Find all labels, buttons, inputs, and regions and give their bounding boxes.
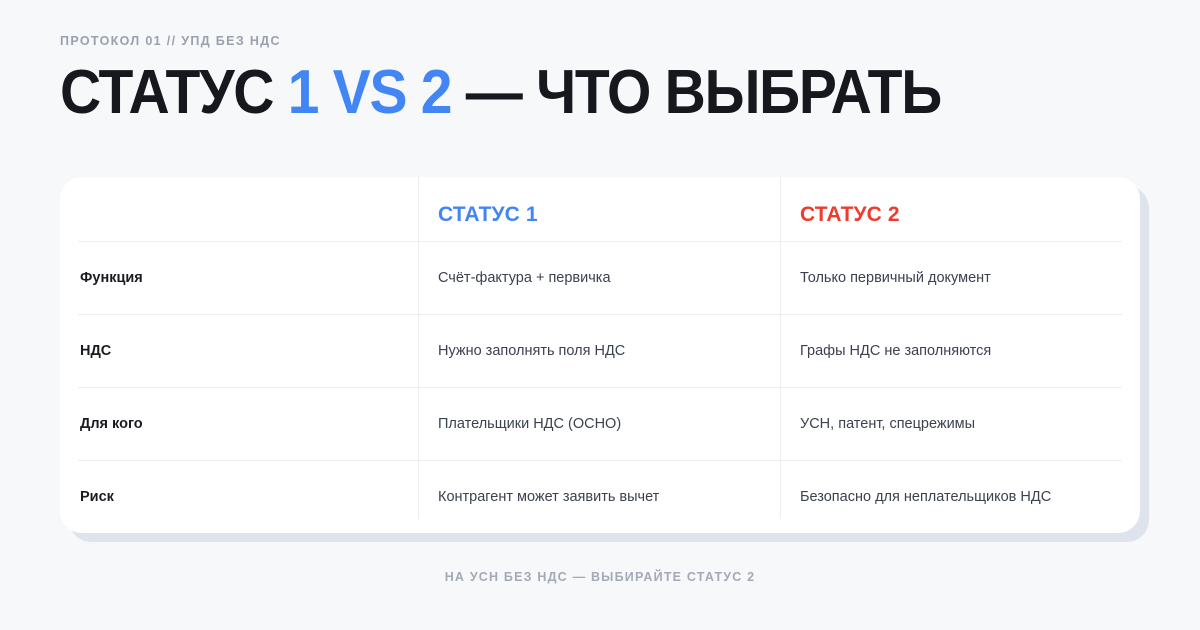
page-title: СТАТУС 1 VS 2 — ЧТО ВЫБРАТЬ xyxy=(60,60,1054,126)
eyebrow-label: ПРОТОКОЛ 01 // УПД БЕЗ НДС xyxy=(60,32,1140,50)
row-label-3: Риск xyxy=(80,489,114,505)
header-block: ПРОТОКОЛ 01 // УПД БЕЗ НДС СТАТУС 1 VS 2… xyxy=(60,32,1140,126)
table-cell-status2: Только первичный документ xyxy=(780,268,1140,288)
row-value-status2-0: Только первичный документ xyxy=(800,270,991,286)
slide-root: ПРОТОКОЛ 01 // УПД БЕЗ НДС СТАТУС 1 VS 2… xyxy=(0,0,1200,630)
row-value-status1-3: Контрагент может заявить вычет xyxy=(438,489,659,505)
row-value-status1-1: Нужно заполнять поля НДС xyxy=(438,343,625,359)
row-label-0: Функция xyxy=(80,270,143,286)
table-cell-status1: Плательщики НДС (ОСНО) xyxy=(418,414,780,434)
table-cell-label: Для кого xyxy=(60,414,418,434)
table-cell-status1: Контрагент может заявить вычет xyxy=(418,487,780,507)
table-cell-label: НДС xyxy=(60,341,418,361)
comparison-card-wrapper: СТАТУС 1 СТАТУС 2 Функция Счёт-фактура +… xyxy=(60,177,1140,533)
row-value-status2-3: Безопасно для неплательщиков НДС xyxy=(800,489,1051,505)
title-segment-lead: СТАТУС xyxy=(60,58,288,127)
row-value-status1-2: Плательщики НДС (ОСНО) xyxy=(438,416,621,432)
comparison-table: СТАТУС 1 СТАТУС 2 Функция Счёт-фактура +… xyxy=(60,177,1140,533)
title-segment-tail: — ЧТО ВЫБРАТЬ xyxy=(451,58,941,127)
column-header-label-1: СТАТУС 1 xyxy=(438,203,538,226)
table-row: Для кого Плательщики НДС (ОСНО) УСН, пат… xyxy=(60,387,1140,460)
column-header-label-2: СТАТУС 2 xyxy=(800,203,900,226)
table-cell-status1: Счёт-фактура + первичка xyxy=(418,268,780,288)
table-cell-status2: УСН, патент, спецрежимы xyxy=(780,414,1140,434)
footer-note: НА УСН БЕЗ НДС — ВЫБИРАЙТЕ СТАТУС 2 xyxy=(0,568,1200,586)
table-row: Риск Контрагент может заявить вычет Безо… xyxy=(60,460,1140,533)
table-header-row: СТАТУС 1 СТАТУС 2 xyxy=(60,177,1140,241)
table-header-cell-status2: СТАТУС 2 xyxy=(780,203,1140,227)
table-cell-status1: Нужно заполнять поля НДС xyxy=(418,341,780,361)
table-cell-status2: Безопасно для неплательщиков НДС xyxy=(780,487,1140,507)
row-label-2: Для кого xyxy=(80,416,143,432)
table-cell-status2: Графы НДС не заполняются xyxy=(780,341,1140,361)
table-header-cell-status1: СТАТУС 1 xyxy=(418,203,780,227)
row-value-status2-2: УСН, патент, спецрежимы xyxy=(800,416,975,432)
row-label-1: НДС xyxy=(80,343,111,359)
table-row: НДС Нужно заполнять поля НДС Графы НДС н… xyxy=(60,314,1140,387)
row-value-status1-0: Счёт-фактура + первичка xyxy=(438,270,611,286)
title-segment-accent: 1 VS 2 xyxy=(288,58,452,127)
table-cell-label: Функция xyxy=(60,268,418,288)
table-cell-label: Риск xyxy=(60,487,418,507)
row-value-status2-1: Графы НДС не заполняются xyxy=(800,343,991,359)
comparison-card: СТАТУС 1 СТАТУС 2 Функция Счёт-фактура +… xyxy=(60,177,1140,533)
table-row: Функция Счёт-фактура + первичка Только п… xyxy=(60,241,1140,314)
